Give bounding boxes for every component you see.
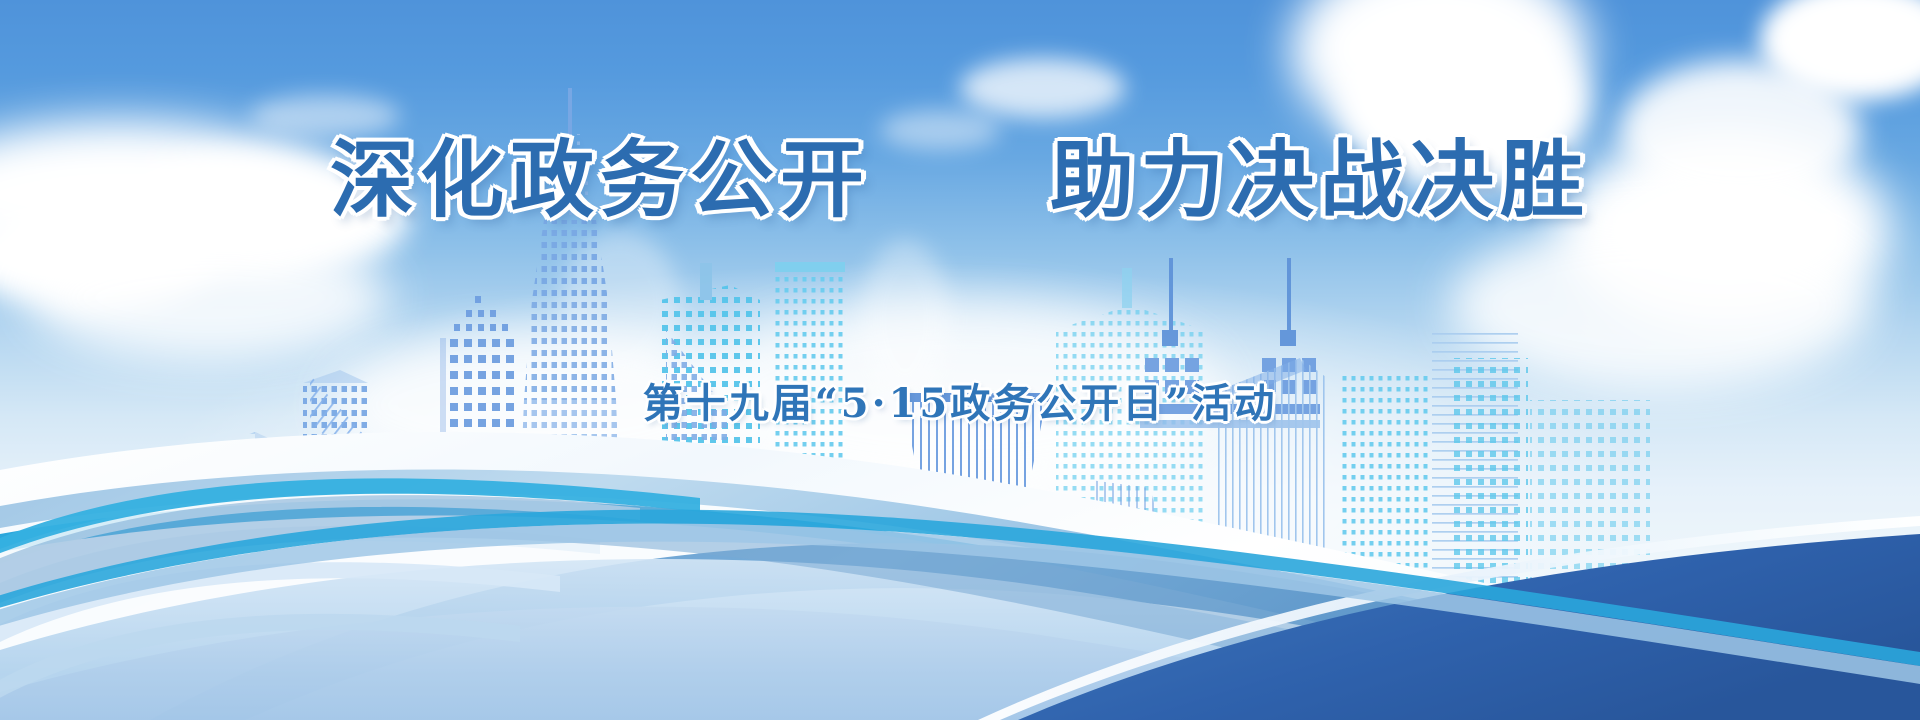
banner-main-title: 深化政务公开 助力决战决胜 <box>0 138 1920 222</box>
banner-sub-title: 第十九届“5·15政务公开日”活动 <box>0 384 1920 424</box>
government-openness-day-banner: 深化政务公开 助力决战决胜 第十九届“5·15政务公开日”活动 <box>0 0 1920 720</box>
banner-text-layer: 深化政务公开 助力决战决胜 第十九届“5·15政务公开日”活动 <box>0 0 1920 720</box>
